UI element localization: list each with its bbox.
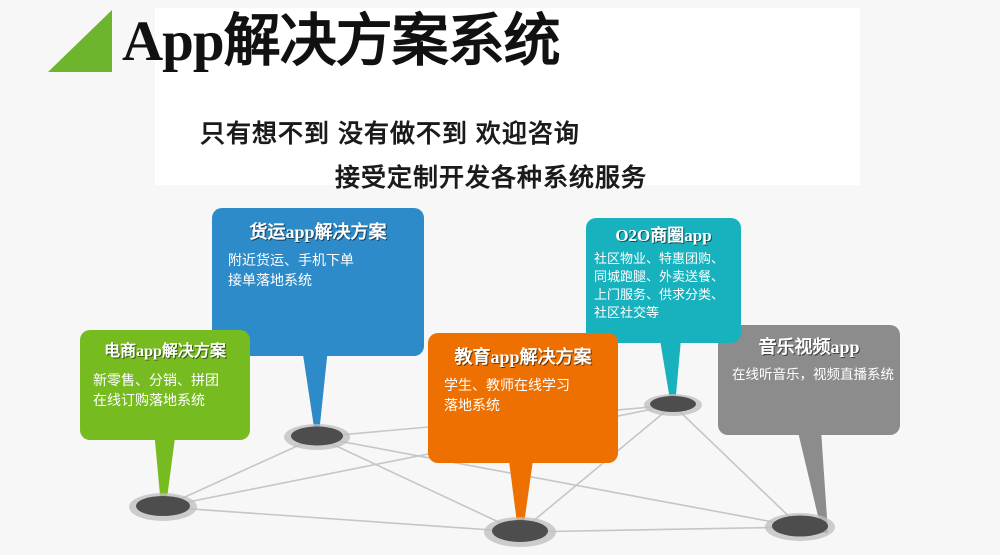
pin-title-education: 教育app解决方案: [444, 345, 602, 369]
pin-desc-o2o-3: 上门服务、供求分类、: [594, 286, 733, 304]
pin-title-freight: 货运app解决方案: [228, 220, 408, 244]
page-title: App解决方案系统: [122, 8, 560, 76]
pin-card-ecommerce[interactable]: 电商app解决方案 新零售、分销、拼团 在线订购落地系统: [80, 330, 250, 440]
pin-desc-ecommerce-1: 新零售、分销、拼团: [93, 370, 237, 390]
pin-desc-o2o-4: 社区社交等: [594, 304, 733, 322]
pin-desc-education-2: 落地系统: [444, 395, 602, 415]
pin-card-education[interactable]: 教育app解决方案 学生、教师在线学习 落地系统: [428, 333, 618, 463]
pin-desc-freight-2: 接单落地系统: [228, 270, 408, 290]
pin-title-ecommerce: 电商app解决方案: [93, 340, 237, 364]
pin-title-o2o: O2O商圈app: [594, 224, 733, 248]
slide-canvas: App解决方案系统 只有想不到 没有做不到 欢迎咨询 接受定制开发各种系统服务 …: [0, 0, 1000, 552]
pin-desc-ecommerce-2: 在线订购落地系统: [93, 390, 237, 410]
pin-desc-o2o-1: 社区物业、特惠团购、: [594, 250, 733, 268]
pin-desc-education-1: 学生、教师在线学习: [444, 375, 602, 395]
pin-desc-o2o-2: 同城跑腿、外卖送餐、: [594, 268, 733, 286]
pin-card-o2o[interactable]: O2O商圈app 社区物业、特惠团购、 同城跑腿、外卖送餐、 上门服务、供求分类…: [586, 218, 741, 343]
pin-desc-freight-1: 附近货运、手机下单: [228, 250, 408, 270]
